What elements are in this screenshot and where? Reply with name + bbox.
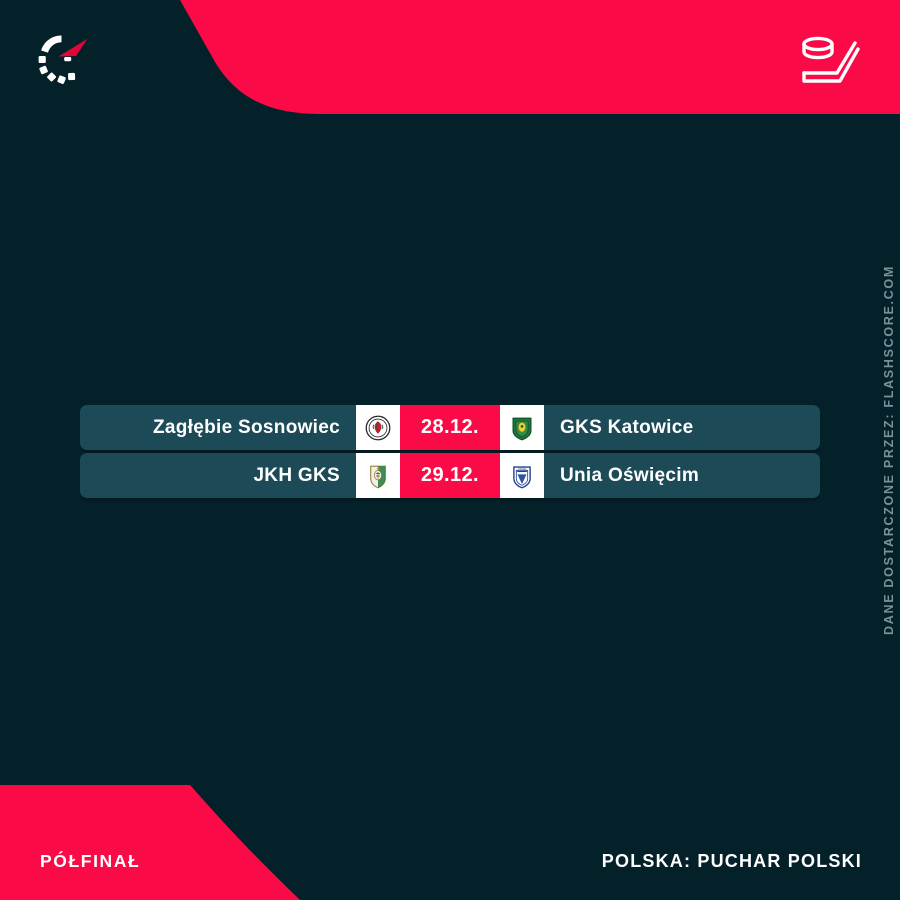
away-team-name: GKS Katowice (544, 405, 820, 450)
zaglebie-sosnowiec-crest (356, 405, 400, 450)
graphic-canvas: Zagłębie Sosnowiec 28.12. (0, 0, 900, 900)
footer-banner-shape (0, 785, 900, 900)
header-banner-shape (0, 0, 900, 120)
gks-katowice-crest (500, 405, 544, 450)
match-date: 28.12. (400, 405, 500, 450)
match-row[interactable]: Zagłębie Sosnowiec 28.12. (80, 405, 820, 450)
match-date: 29.12. (400, 453, 500, 498)
away-team-name: Unia Oświęcim (544, 453, 820, 498)
home-team-name: JKH GKS (80, 453, 356, 498)
unia-oswiecim-crest: UNIA (500, 453, 544, 498)
data-provider-credit: DANE DOSTARCZONE PRZEZ: FLASHSCORE.COM (882, 265, 896, 635)
jkh-gks-crest (356, 453, 400, 498)
flashscore-logo (28, 25, 98, 95)
match-list: Zagłębie Sosnowiec 28.12. (80, 405, 820, 498)
svg-text:UNIA: UNIA (518, 467, 527, 471)
data-provider-credit-text: DANE DOSTARCZONE PRZEZ: FLASHSCORE.COM (882, 265, 896, 635)
stage-label: PÓŁFINAŁ (40, 851, 140, 872)
home-team-name: Zagłębie Sosnowiec (80, 405, 356, 450)
match-row[interactable]: JKH GKS 29.12. UNIA (80, 453, 820, 498)
ice-hockey-puck-stick-icon (792, 30, 862, 88)
competition-label: POLSKA: PUCHAR POLSKI (602, 851, 862, 872)
